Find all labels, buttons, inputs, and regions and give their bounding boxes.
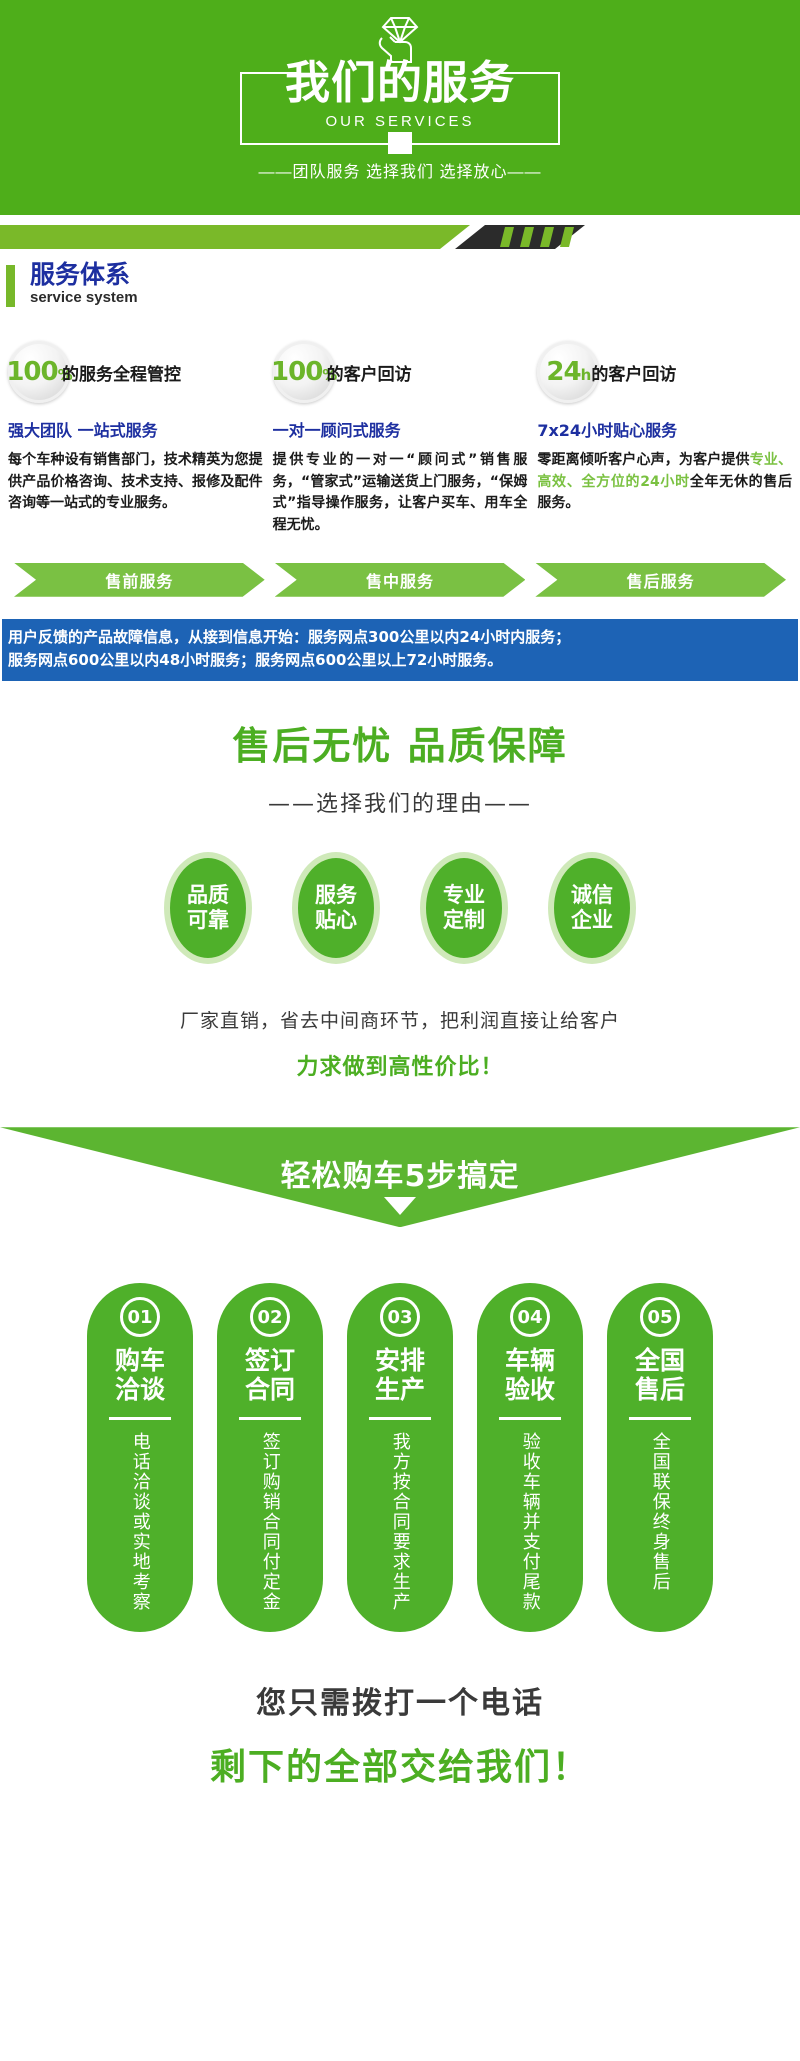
reason-ovals: 品质 可靠 服务 贴心 专业 定制 诚信 企业: [0, 852, 800, 964]
footer-cta: 您只需拨打一个电话 剩下的全部交给我们！: [0, 1678, 800, 1800]
ribbon-in-sales[interactable]: 售中服务: [275, 563, 526, 597]
step-divider-2: [239, 1417, 301, 1420]
step-desc-3: 我方按合同要求生产: [388, 1432, 411, 1612]
badge-row-1: 100% 的服务全程管控: [8, 339, 263, 405]
reason-oval-1-line2: 可靠: [187, 908, 229, 934]
reason-oval-1-line1: 品质: [187, 883, 229, 909]
steps-banner-label: 轻松购车5步搞定: [281, 1151, 520, 1195]
notice-line-1: 用户反馈的产品故障信息，从接到信息开始：服务网点300公里以内24小时内服务；: [8, 626, 792, 649]
step-title-5-line2: 售后: [635, 1376, 685, 1405]
step-desc-1: 电话洽谈或实地考察: [128, 1432, 151, 1612]
step-number-3: 03: [380, 1297, 420, 1337]
reason-oval-2-line2: 贴心: [315, 908, 357, 934]
badge-label-3: 的客户回访: [591, 360, 676, 385]
badge-circle-1: 100%: [8, 341, 70, 403]
badge-value-3: 24: [546, 357, 580, 387]
step-card-4: 04 车辆 验收 验收车辆并支付尾款: [477, 1283, 583, 1632]
step-desc-4: 验收车辆并支付尾款: [518, 1432, 541, 1612]
step-title-3-line2: 生产: [375, 1376, 425, 1405]
step-number-1: 01: [120, 1297, 160, 1337]
direct-sales-line-2: 力求做到高性价比！: [0, 1049, 800, 1081]
step-number-5: 05: [640, 1297, 680, 1337]
step-number-2: 02: [250, 1297, 290, 1337]
step-title-3: 安排 生产: [375, 1347, 425, 1405]
reason-oval-4-line2: 企业: [571, 908, 613, 934]
service-column-body-2: 提供专业的一对一“顾问式”销售服务，“管家式”运输送货上门服务，“保姆式”指导操…: [273, 450, 528, 537]
service-system-title-cn: 服务体系: [30, 261, 800, 289]
body-pre-3: 零距离倾听客户心声，为客户提供: [537, 452, 749, 468]
step-card-5: 05 全国 售后 全国联保终身售后: [607, 1283, 713, 1632]
reasons-section: 售后无忧 品质保障 ——选择我们的理由—— 品质 可靠 服务 贴心 专业 定制 …: [0, 715, 800, 1081]
notice-line-2: 服务网点600公里以内48小时服务；服务网点600公里以上72小时服务。: [8, 649, 792, 672]
step-title-1-line2: 洽谈: [115, 1376, 165, 1405]
badge-label-2: 的客户回访: [327, 360, 412, 385]
ribbon-after-sales[interactable]: 售后服务: [535, 563, 786, 597]
service-column-title-2: 一对一顾问式服务: [273, 417, 528, 441]
badge-row-2: 100% 的客户回访: [273, 339, 528, 405]
step-card-2: 02 签订 合同 签订购销合同付定金: [217, 1283, 323, 1632]
reason-oval-3-line2: 定制: [443, 908, 485, 934]
hero-subtitle: ——团队服务 选择我们 选择放心——: [259, 158, 542, 182]
service-column-1: 100% 的服务全程管控 强大团队 一站式服务 每个车种设有销售部门，技术精英为…: [8, 339, 263, 537]
step-title-2-line2: 合同: [245, 1376, 295, 1405]
badge-circle-2: 100%: [273, 341, 335, 403]
step-card-1: 01 购车 洽谈 电话洽谈或实地考察: [87, 1283, 193, 1632]
step-title-1: 购车 洽谈: [115, 1347, 165, 1405]
badge-value-2: 100: [271, 357, 322, 387]
badge-label-1: 的服务全程管控: [62, 360, 181, 385]
hero-title-en: OUR SERVICES: [325, 113, 474, 130]
service-column-title-3: 7x24小时贴心服务: [537, 417, 792, 441]
decor-green-shape: [0, 225, 470, 249]
badge-row-3: 24h 的客户回访: [537, 339, 792, 405]
reason-oval-4: 诚信 企业: [548, 852, 636, 964]
reason-oval-2-line1: 服务: [315, 883, 357, 909]
step-title-4-line1: 车辆: [505, 1347, 555, 1376]
step-card-3: 03 安排 生产 我方按合同要求生产: [347, 1283, 453, 1632]
service-stage-ribbons: 售前服务 售中服务 售后服务: [0, 563, 800, 597]
badge-number-3: 24h: [546, 359, 590, 385]
hero-banner: 我们的服务 OUR SERVICES ——团队服务 选择我们 选择放心——: [0, 0, 800, 215]
service-column-title-1: 强大团队 一站式服务: [8, 417, 263, 441]
reason-oval-3: 专业 定制: [420, 852, 508, 964]
service-system-title-en: service system: [30, 289, 800, 307]
body-highlight-3b: 24小时: [640, 474, 690, 490]
steps-banner: 轻松购车5步搞定: [0, 1127, 800, 1245]
step-desc-2: 签订购销合同付定金: [258, 1432, 281, 1612]
ribbon-pre-sales[interactable]: 售前服务: [14, 563, 265, 597]
step-title-5: 全国 售后: [635, 1347, 685, 1405]
step-title-3-line1: 安排: [375, 1347, 425, 1376]
step-desc-5: 全国联保终身售后: [648, 1432, 671, 1592]
caret-down-icon: [384, 1197, 416, 1215]
purchase-steps: 01 购车 洽谈 电话洽谈或实地考察 02 签订 合同 签订购销合同付定金 03…: [0, 1283, 800, 1632]
step-title-4: 车辆 验收: [505, 1347, 555, 1405]
reason-oval-4-line1: 诚信: [571, 883, 613, 909]
reason-oval-3-line1: 专业: [443, 883, 485, 909]
reason-oval-2: 服务 贴心: [292, 852, 380, 964]
ribbon-label-2: 售中服务: [366, 568, 434, 592]
step-title-4-line2: 验收: [505, 1376, 555, 1405]
step-divider-5: [629, 1417, 691, 1420]
heading-accent-bar: [6, 265, 15, 307]
step-divider-1: [109, 1417, 171, 1420]
service-column-body-1: 每个车种设有销售部门，技术精英为您提供产品价格咨询、技术支持、报修及配件咨询等一…: [8, 450, 263, 515]
service-system-decor-bar: [0, 217, 800, 257]
step-divider-3: [369, 1417, 431, 1420]
badge-unit-3: h: [581, 366, 591, 384]
reasons-subtitle: ——选择我们的理由——: [0, 786, 800, 818]
service-notice-banner: 用户反馈的产品故障信息，从接到信息开始：服务网点300公里以内24小时内服务； …: [2, 619, 798, 682]
hero-title-cn: 我们的服务: [285, 60, 515, 105]
step-title-2: 签订 合同: [245, 1347, 295, 1405]
service-column-3: 24h 的客户回访 7x24小时贴心服务 零距离倾听客户心声，为客户提供专业、高…: [537, 339, 792, 537]
ribbon-label-3: 售后服务: [627, 568, 695, 592]
direct-sales-line-1: 厂家直销，省去中间商环节，把利润直接让给客户: [0, 1006, 800, 1033]
step-title-1-line1: 购车: [115, 1347, 165, 1376]
service-columns: 100% 的服务全程管控 强大团队 一站式服务 每个车种设有销售部门，技术精英为…: [0, 339, 800, 537]
step-title-2-line1: 签订: [245, 1347, 295, 1376]
footer-line-2: 剩下的全部交给我们！: [0, 1738, 800, 1790]
service-system-heading: 服务体系 service system: [0, 261, 800, 317]
badge-circle-3: 24h: [537, 341, 599, 403]
step-title-5-line1: 全国: [635, 1347, 685, 1376]
footer-line-1: 您只需拨打一个电话: [0, 1678, 800, 1722]
badge-value-1: 100: [6, 357, 57, 387]
service-column-2: 100% 的客户回访 一对一顾问式服务 提供专业的一对一“顾问式”销售服务，“管…: [273, 339, 528, 537]
reason-oval-1: 品质 可靠: [164, 852, 252, 964]
reasons-title: 售后无忧 品质保障: [0, 715, 800, 770]
step-divider-4: [499, 1417, 561, 1420]
step-number-4: 04: [510, 1297, 550, 1337]
ribbon-label-1: 售前服务: [105, 568, 173, 592]
service-column-body-3: 零距离倾听客户心声，为客户提供专业、高效、全方位的24小时全年无休的售后服务。: [537, 450, 792, 515]
